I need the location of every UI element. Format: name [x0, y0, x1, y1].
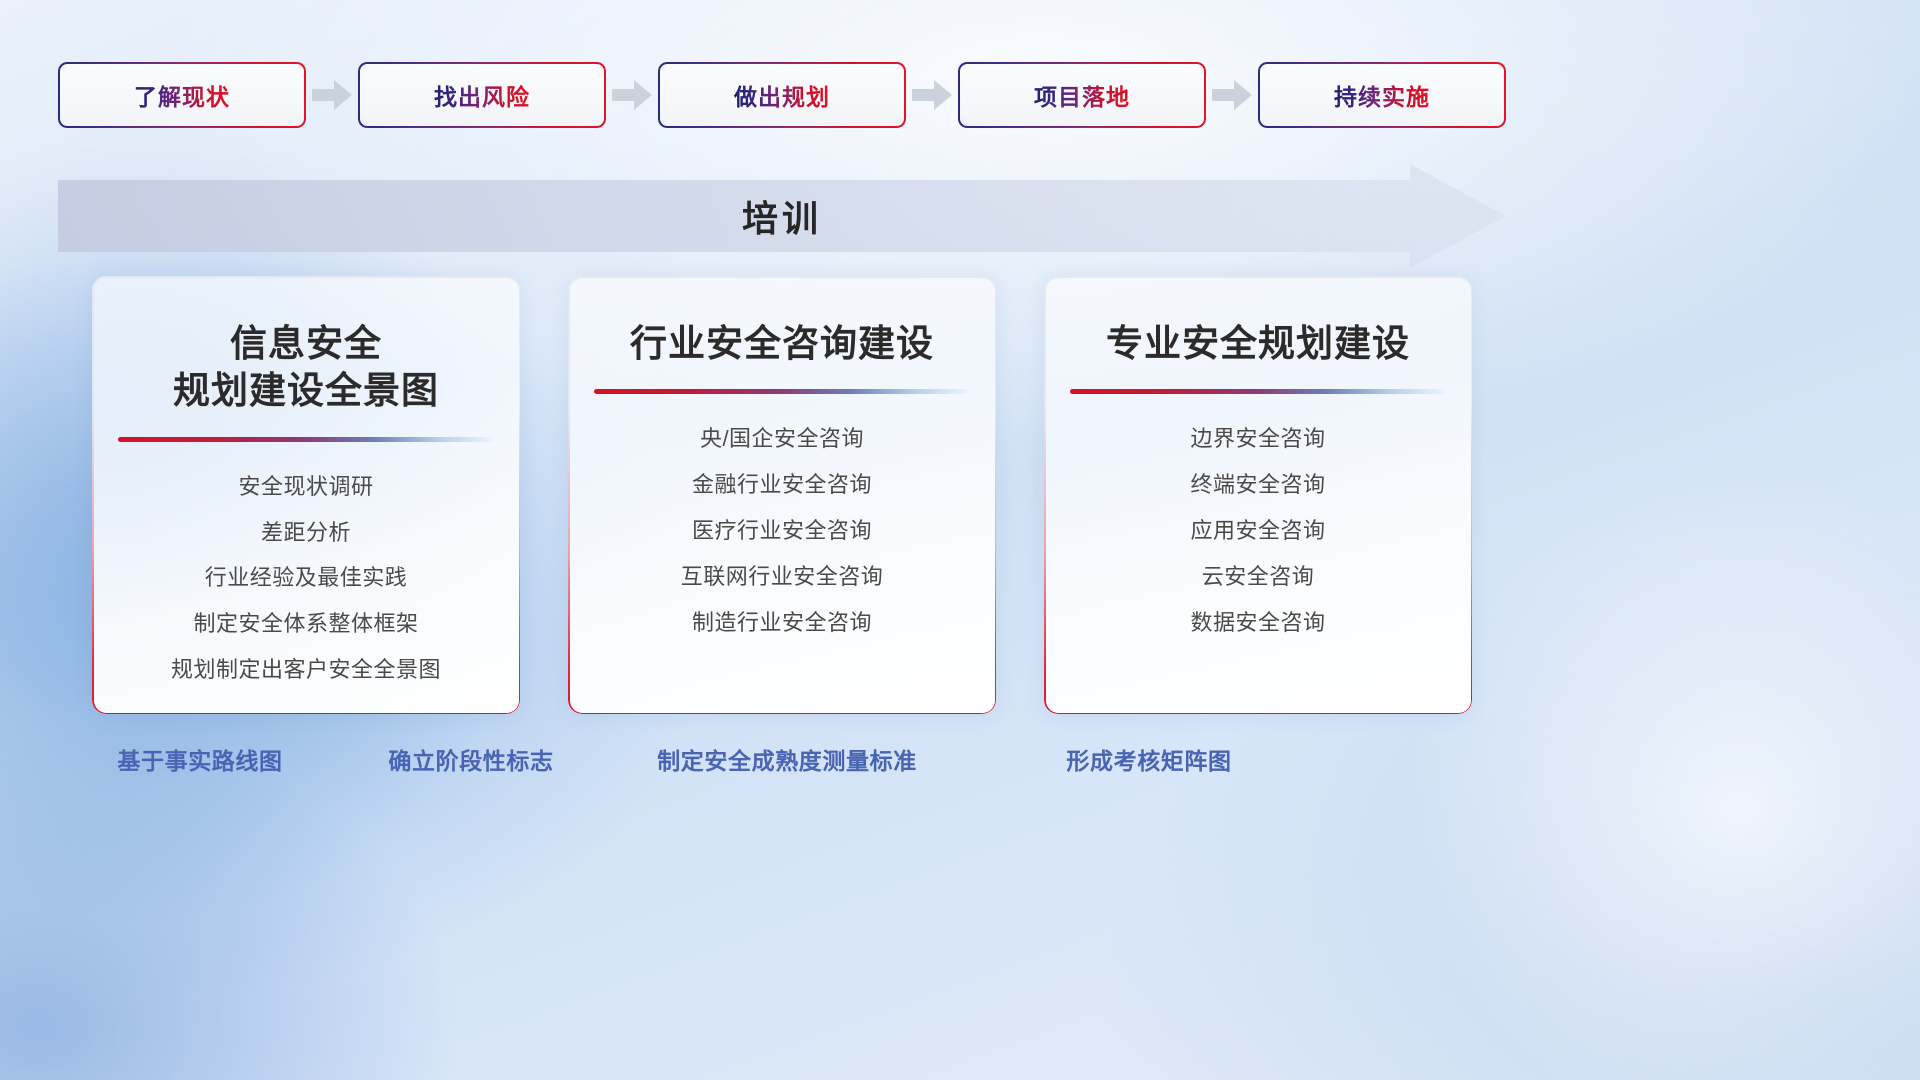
chevron-right-arrow-icon	[306, 78, 358, 112]
chevron-right-arrow-icon	[1206, 78, 1258, 112]
process-step-label: 找出风险	[434, 78, 530, 112]
list-item: 制造行业安全咨询	[692, 604, 872, 642]
card-item-list: 安全现状调研 差距分析 行业经验及最佳实践 制定安全体系整体框架 规划制定出客户…	[92, 468, 520, 689]
band-title: 培训	[58, 164, 1506, 268]
list-item: 云安全咨询	[1202, 558, 1315, 596]
outcome-label: 基于事实路线图	[117, 742, 282, 776]
list-item: 终端安全咨询	[1190, 466, 1325, 504]
process-step-label: 持续实施	[1334, 78, 1430, 112]
card-divider	[594, 389, 970, 394]
list-item: 应用安全咨询	[1190, 512, 1325, 550]
card-divider	[1070, 389, 1446, 394]
process-step-5[interactable]: 持续实施	[1258, 62, 1506, 128]
list-item: 医疗行业安全咨询	[692, 512, 872, 550]
chevron-right-arrow-icon	[906, 78, 958, 112]
process-step-label: 做出规划	[734, 78, 830, 112]
process-step-1[interactable]: 了解现状	[58, 62, 306, 128]
list-item: 央/国企安全咨询	[700, 420, 864, 458]
list-item: 金融行业安全咨询	[692, 466, 872, 504]
card-title: 专业安全规划建设	[1106, 320, 1410, 367]
list-item: 数据安全咨询	[1190, 604, 1325, 642]
list-item: 互联网行业安全咨询	[681, 558, 884, 596]
card-item-list: 央/国企安全咨询 金融行业安全咨询 医疗行业安全咨询 互联网行业安全咨询 制造行…	[568, 420, 996, 641]
outcome-label: 形成考核矩阵图	[1066, 742, 1231, 776]
solution-card-row: 信息安全 规划建设全景图 安全现状调研 差距分析 行业经验及最佳实践 制定安全体…	[92, 276, 1472, 714]
infographic-canvas: 了解现状 找出风险 做出规划 项目落地	[0, 0, 1920, 1080]
solution-card[interactable]: 专业安全规划建设 边界安全咨询 终端安全咨询 应用安全咨询 云安全咨询 数据安全…	[1044, 276, 1472, 714]
outcome-label: 制定安全成熟度测量标准	[657, 742, 917, 776]
list-item: 行业经验及最佳实践	[205, 559, 408, 597]
list-item: 安全现状调研	[238, 468, 373, 506]
process-step-4[interactable]: 项目落地	[958, 62, 1206, 128]
card-divider	[118, 437, 494, 442]
list-item: 制定安全体系整体框架	[193, 605, 418, 643]
process-step-2[interactable]: 找出风险	[358, 62, 606, 128]
chevron-right-arrow-icon	[606, 78, 658, 112]
solution-card[interactable]: 行业安全咨询建设 央/国企安全咨询 金融行业安全咨询 医疗行业安全咨询 互联网行…	[568, 276, 996, 714]
list-item: 规划制定出客户安全全景图	[171, 651, 441, 689]
process-step-row: 了解现状 找出风险 做出规划 项目落地	[58, 62, 1506, 128]
outcome-label: 确立阶段性标志	[388, 742, 553, 776]
process-step-label: 了解现状	[134, 78, 230, 112]
process-step-label: 项目落地	[1034, 78, 1130, 112]
list-item: 边界安全咨询	[1190, 420, 1325, 458]
outcome-label-row: 基于事实路线图 确立阶段性标志 制定安全成熟度测量标准 形成考核矩阵图	[0, 742, 1920, 790]
card-title: 行业安全咨询建设	[630, 320, 934, 367]
process-step-3[interactable]: 做出规划	[658, 62, 906, 128]
solution-card[interactable]: 信息安全 规划建设全景图 安全现状调研 差距分析 行业经验及最佳实践 制定安全体…	[92, 276, 520, 714]
card-title: 信息安全 规划建设全景图	[173, 320, 439, 415]
card-item-list: 边界安全咨询 终端安全咨询 应用安全咨询 云安全咨询 数据安全咨询	[1044, 420, 1472, 641]
list-item: 差距分析	[261, 514, 351, 552]
